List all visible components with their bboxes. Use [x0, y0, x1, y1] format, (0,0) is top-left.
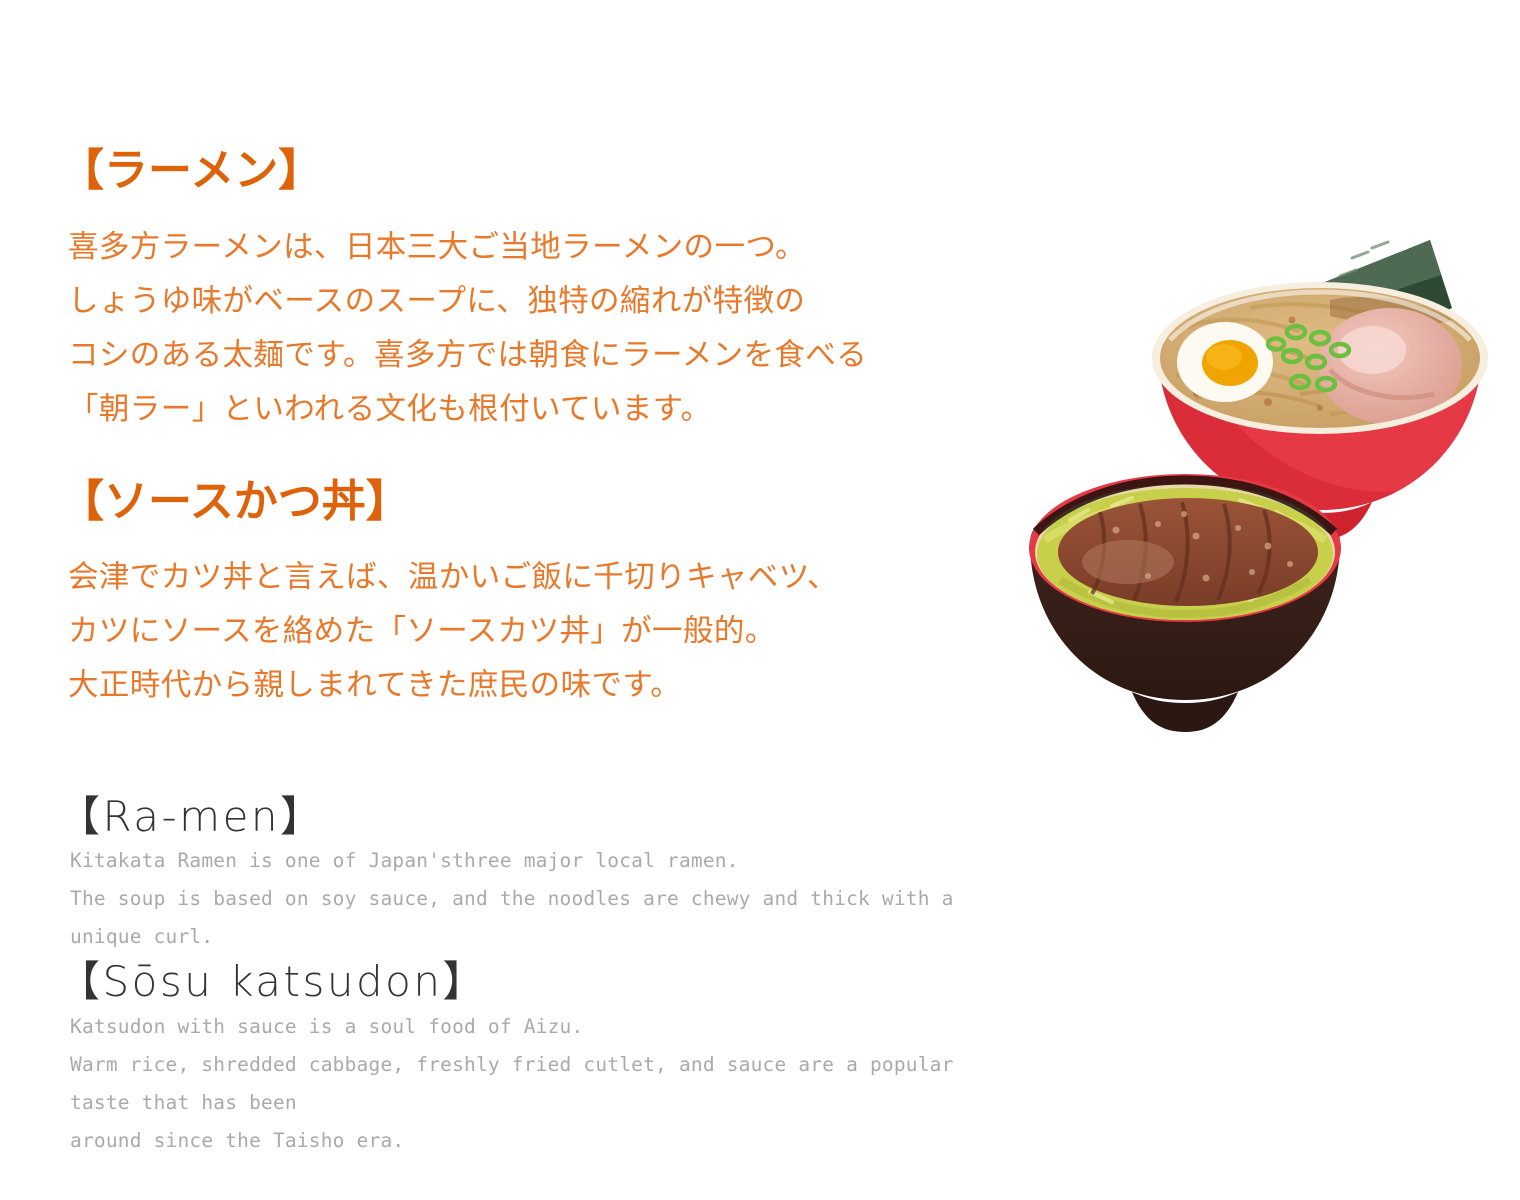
japanese-body-ramen: 喜多方ラーメンは、日本三大ご当地ラーメンの一つ。 しょうゆ味がベースのスープに、…	[68, 221, 867, 437]
japanese-body-katsudon: 会津でカツ丼と言えば、温かいご飯に千切りキャベツ、 カツにソースを絡めた「ソース…	[68, 551, 838, 713]
katsudon-bowl-illustration	[1029, 474, 1341, 732]
english-body-ramen: Kitakata Ramen is one of Japan'sthree ma…	[70, 842, 1020, 956]
english-body-katsudon: Katsudon with sauce is a soul food of Ai…	[70, 1008, 1020, 1160]
soft-boiled-egg-icon	[1177, 322, 1273, 402]
english-heading-ramen: 【Ra-men】	[58, 795, 325, 839]
content-column: 【ラーメン】 喜多方ラーメンは、日本三大ご当地ラーメンの一つ。 しょうゆ味がベー…	[0, 0, 1020, 1200]
pork-cutlet-icon	[1058, 498, 1318, 606]
english-heading-katsudon: 【Sōsu katsudon】	[58, 960, 487, 1004]
food-illustrations	[1000, 180, 1520, 740]
japanese-heading-katsudon: 【ソースかつ丼】	[60, 480, 410, 524]
japanese-heading-ramen: 【ラーメン】	[60, 149, 322, 193]
